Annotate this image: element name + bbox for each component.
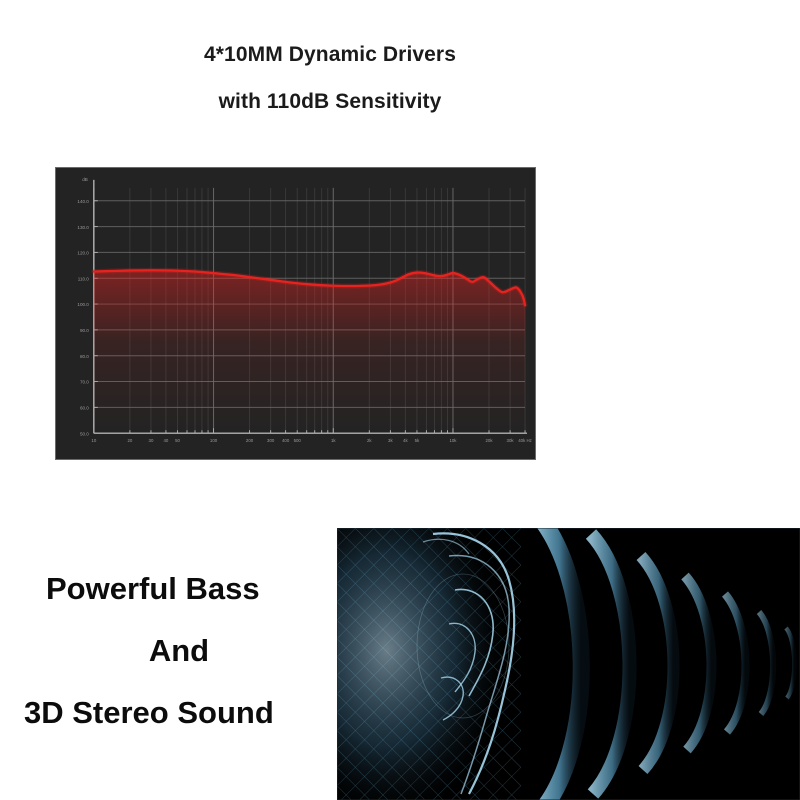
chart-y-tick-labels: 140.0130.0120.0110.0100.090.080.070.060.… [77, 199, 89, 436]
x-tick-label: 4k [403, 438, 408, 443]
promo-line-1: Powerful Bass [46, 573, 334, 604]
ear-soundwave-image [337, 528, 800, 800]
chart-canvas: 140.0130.0120.0110.0100.090.080.070.060.… [56, 168, 535, 459]
x-tick-label: 50 [175, 438, 180, 443]
x-tick-label: 400 [282, 438, 290, 443]
y-tick-label: 60.0 [80, 406, 89, 411]
y-tick-label: 90.0 [80, 328, 89, 333]
y-tick-label: 100.0 [77, 302, 89, 307]
x-tick-label: 30 [149, 438, 154, 443]
ear-illustration [337, 528, 800, 800]
y-tick-label: 70.0 [80, 380, 89, 385]
x-tick-label: 500 [294, 438, 302, 443]
frequency-response-chart: 140.0130.0120.0110.0100.090.080.070.060.… [55, 167, 536, 460]
promo-line-3: 3D Stereo Sound [24, 697, 334, 728]
y-tick-label: 130.0 [77, 225, 89, 230]
headline-line-2: with 110dB Sensitivity [0, 91, 660, 112]
x-tick-label: 10k [449, 438, 457, 443]
x-tick-label: 40 [163, 438, 168, 443]
y-tick-label: 50.0 [80, 431, 89, 436]
x-tick-label: 40k Hz [518, 438, 532, 443]
y-tick-label: 140.0 [77, 199, 89, 204]
promo-line-2: And [24, 635, 334, 666]
chart-curve-series [94, 270, 525, 433]
unit-label-db: dB [82, 177, 88, 182]
promo-text-block: Powerful Bass And 3D Stereo Sound [24, 573, 334, 728]
y-tick-label: 120.0 [77, 251, 89, 256]
x-tick-label: 30k [507, 438, 515, 443]
y-tick-label: 110.0 [78, 276, 90, 281]
headline-block: 4*10MM Dynamic Drivers with 110dB Sensit… [0, 44, 660, 112]
headline-line-1: 4*10MM Dynamic Drivers [0, 44, 660, 65]
x-tick-label: 2k [367, 438, 372, 443]
x-tick-label: 300 [267, 438, 275, 443]
x-tick-label: 5k [415, 438, 420, 443]
y-tick-label: 80.0 [80, 354, 89, 359]
chart-x-tick-labels: 10203040501002003004005001k2k3k4k5k10k20… [91, 438, 531, 443]
x-tick-label: 20 [127, 438, 132, 443]
x-tick-label: 3k [388, 438, 393, 443]
chart-unit-label: dB [82, 177, 88, 182]
curve-fill [94, 270, 525, 433]
x-tick-label: 100 [210, 438, 218, 443]
x-tick-label: 1k [331, 438, 336, 443]
x-tick-label: 200 [246, 438, 254, 443]
x-tick-label: 20k [485, 438, 493, 443]
x-tick-label: 10 [91, 438, 96, 443]
